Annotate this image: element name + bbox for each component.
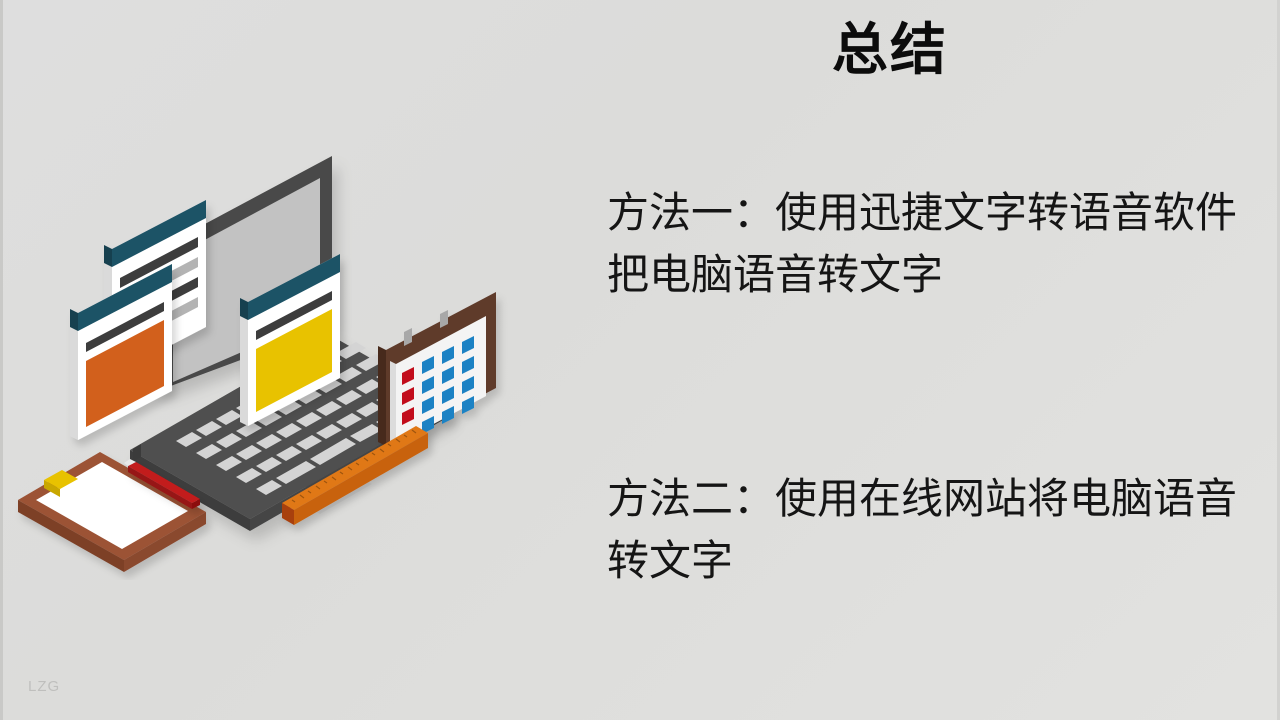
method-two-text: 方法二：使用在线网站将电脑语音转文字 — [607, 468, 1247, 592]
method-one-text: 方法一：使用迅捷文字转语音软件把电脑语音转文字 — [607, 182, 1247, 306]
isometric-desk-laptop-illustration — [0, 150, 540, 580]
watermark-label: LZG — [28, 678, 60, 695]
page-title: 总结 — [600, 22, 1180, 81]
presentation-slide: 总结 方法一：使用迅捷文字转语音软件把电脑语音转文字 方法二：使用在线网站将电脑… — [0, 0, 1280, 720]
calendar-icon — [378, 292, 496, 450]
